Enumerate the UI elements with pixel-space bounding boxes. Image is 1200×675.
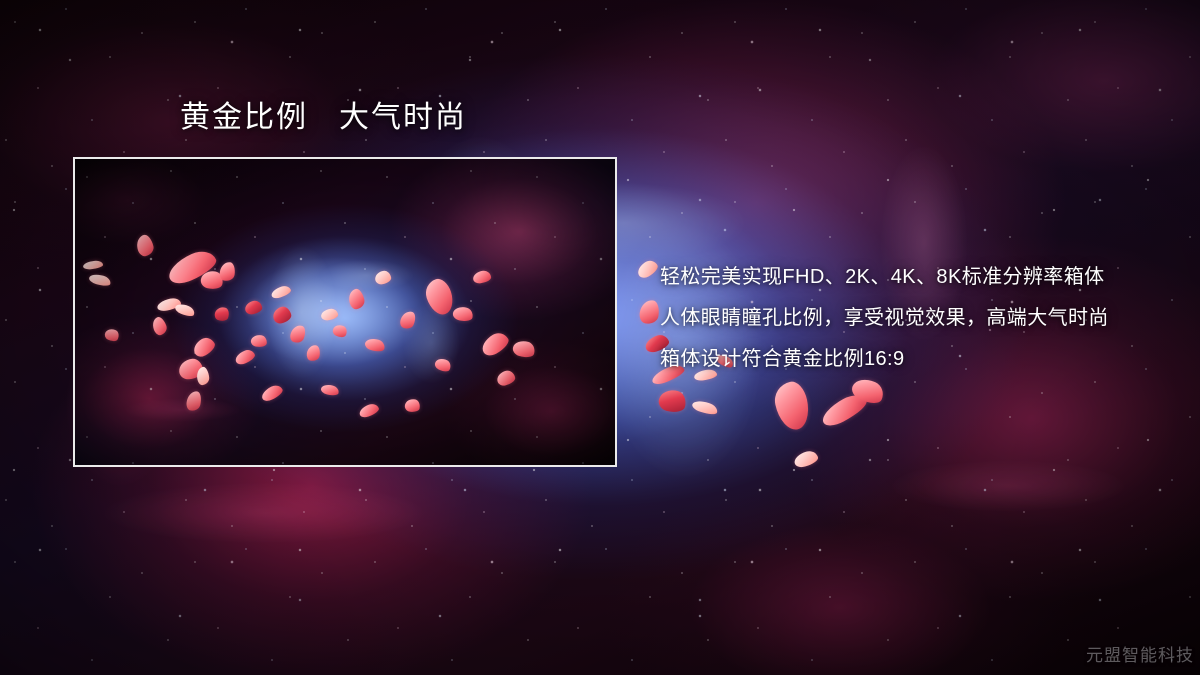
petal-decoration bbox=[793, 449, 820, 469]
petal-decoration bbox=[657, 387, 689, 415]
frame-vignette bbox=[75, 159, 615, 465]
page-title: 黄金比例 大气时尚 bbox=[180, 101, 467, 134]
body-text-line-1: 轻松完美实现FHD、2K、4K、8K标准分辨率箱体 bbox=[660, 257, 1180, 298]
watermark: 元盟智能科技 bbox=[1086, 641, 1194, 666]
framed-image-content bbox=[75, 159, 615, 465]
presentation-slide: 黄金比例 大气时尚 轻松完美实现FHD、2K、4K、8K标准分辨率箱体 人体眼睛… bbox=[0, 0, 1200, 675]
body-text-line-3: 箱体设计符合黄金比例16:9 bbox=[660, 339, 1180, 380]
petal-decoration bbox=[691, 398, 719, 416]
body-text-block: 轻松完美实现FHD、2K、4K、8K标准分辨率箱体 人体眼睛瞳孔比例，享受视觉效… bbox=[660, 257, 1180, 380]
petal-decoration bbox=[638, 299, 661, 326]
framed-preview-image bbox=[73, 157, 617, 467]
petal-decoration bbox=[818, 390, 870, 430]
petal-decoration bbox=[771, 379, 812, 433]
petal-decoration bbox=[635, 258, 660, 281]
body-text-line-2: 人体眼睛瞳孔比例，享受视觉效果，高端大气时尚 bbox=[660, 298, 1180, 339]
